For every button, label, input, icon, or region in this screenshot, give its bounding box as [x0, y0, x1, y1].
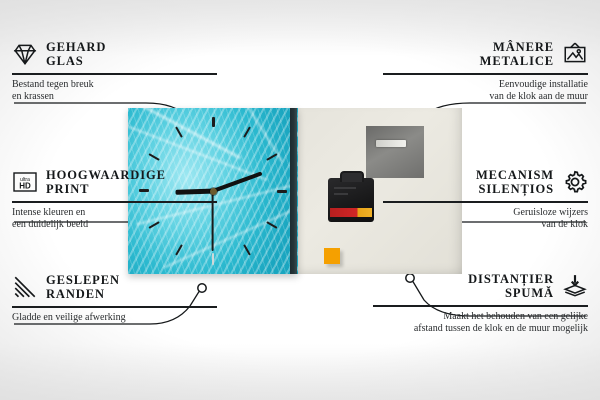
feature-distantier-spuma: DISTANȚIER SPUMĂ Maakt het behouden van …: [373, 272, 588, 336]
feature-rule: [383, 201, 588, 203]
feature-title-line1: HOOGWAARDIGE: [46, 168, 166, 182]
feature-sub-line1: Eenvoudige installatie: [383, 79, 588, 92]
feature-sub-line2: afstand tussen de klok en de muur mogeli…: [373, 323, 588, 336]
feature-title-line1: DISTANȚIER: [468, 272, 554, 286]
feature-hoogwaardige-print: ultra HD HOOGWAARDIGE PRINT Intense kleu…: [12, 168, 217, 232]
feature-rule: [383, 73, 588, 75]
feature-sub-line2: van de klok aan de muur: [383, 91, 588, 104]
feature-title-line2: PRINT: [46, 182, 166, 196]
feature-sub-line2: en krassen: [12, 91, 217, 104]
feature-title-line1: MÂNERE: [480, 40, 554, 54]
svg-text:HD: HD: [19, 182, 31, 191]
feature-sub-line1: Bestand tegen breuk: [12, 79, 217, 92]
feature-title-line1: MECANISM: [476, 168, 554, 182]
infographic-canvas: GEHARD GLAS Bestand tegen breuk en krass…: [0, 0, 600, 400]
feature-sub-line2: een duidelijk beeld: [12, 219, 217, 232]
feature-title-line2: GLAS: [46, 54, 106, 68]
feature-title-line2: SPUMĂ: [468, 286, 554, 300]
picture-frame-icon: [562, 41, 588, 67]
feature-mecanism-silentios: MECANISM SILENȚIOS Geruisloze wijzers va…: [383, 168, 588, 232]
feature-rule: [12, 73, 217, 75]
feature-sub-line2: van de klok: [383, 219, 588, 232]
feature-geslepen-randen: GESLEPEN RANDEN Gladde en veilige afwerk…: [12, 273, 217, 324]
feature-manere-metalice: MÂNERE METALICE Eenvoudige installatie v…: [383, 40, 588, 104]
feature-sub-line1: Gladde en veilige afwerking: [12, 312, 217, 325]
bevelled-edge-icon: [12, 274, 38, 300]
gear-icon: [562, 169, 588, 195]
feature-title-line2: RANDEN: [46, 287, 120, 301]
feature-title-line2: METALICE: [480, 54, 554, 68]
feature-sub-line1: Maakt het behouden van een gelijke: [373, 311, 588, 324]
minute-hand: [212, 171, 262, 193]
feature-title-line1: GEHARD: [46, 40, 106, 54]
feature-sub-line1: Geruisloze wijzers: [383, 207, 588, 220]
feature-rule: [12, 201, 217, 203]
spacer-down-arrow-icon: [562, 273, 588, 299]
clock-mechanism-box: [328, 178, 374, 222]
feature-rule: [373, 305, 588, 307]
diamond-icon: [12, 41, 38, 67]
feature-rule: [12, 306, 217, 308]
ultra-hd-icon: ultra HD: [12, 169, 38, 195]
feature-title-line2: SILENȚIOS: [476, 182, 554, 196]
feature-sub-line1: Intense kleuren en: [12, 207, 217, 220]
feature-gehard-glas: GEHARD GLAS Bestand tegen breuk en krass…: [12, 40, 217, 104]
orange-foam-spacer: [324, 248, 340, 264]
feature-title-line1: GESLEPEN: [46, 273, 120, 287]
